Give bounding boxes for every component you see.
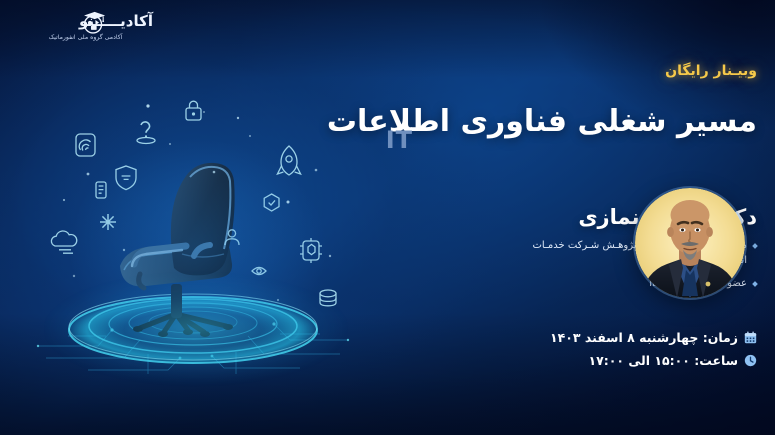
webinar-eyebrow-label: وبیـنار رایگان	[665, 63, 757, 79]
brand-logo-row: آکادیـــــنو	[18, 6, 153, 36]
graduation-cap-icon	[80, 9, 106, 35]
illustration-floor-glow	[46, 274, 346, 384]
brand-logo[interactable]: آکادیـــــنو آکادمی گروه ملی انفورماتیک	[18, 6, 153, 52]
bullet-square-icon	[752, 243, 758, 249]
clock-icon	[744, 354, 757, 367]
brand-logo-subtitle: آکادمی گروه ملی انفورماتیک	[18, 34, 153, 41]
schedule-row-date: زمان: چهارشنبه ۸ اسفند ۱۴۰۳	[527, 330, 757, 345]
webinar-poster: آکادیـــــنو آکادمی گروه ملی انفورماتیک	[0, 0, 775, 435]
speaker-portrait	[635, 188, 745, 298]
page-subtitle: IT	[386, 126, 413, 154]
bullet-square-icon	[752, 281, 758, 287]
schedule-time-label: ساعت: ۱۵:۰۰ الی ۱۷:۰۰	[588, 353, 738, 368]
schedule-date-label: زمان: چهارشنبه ۸ اسفند ۱۴۰۳	[550, 330, 738, 345]
office-chair-tech-illustration	[28, 78, 358, 378]
schedule-row-time: ساعت: ۱۵:۰۰ الی ۱۷:۰۰	[527, 353, 757, 368]
schedule-block: زمان: چهارشنبه ۸ اسفند ۱۴۰۳ ساعت: ۱۵:۰۰ …	[527, 330, 757, 376]
calendar-icon	[744, 331, 757, 344]
